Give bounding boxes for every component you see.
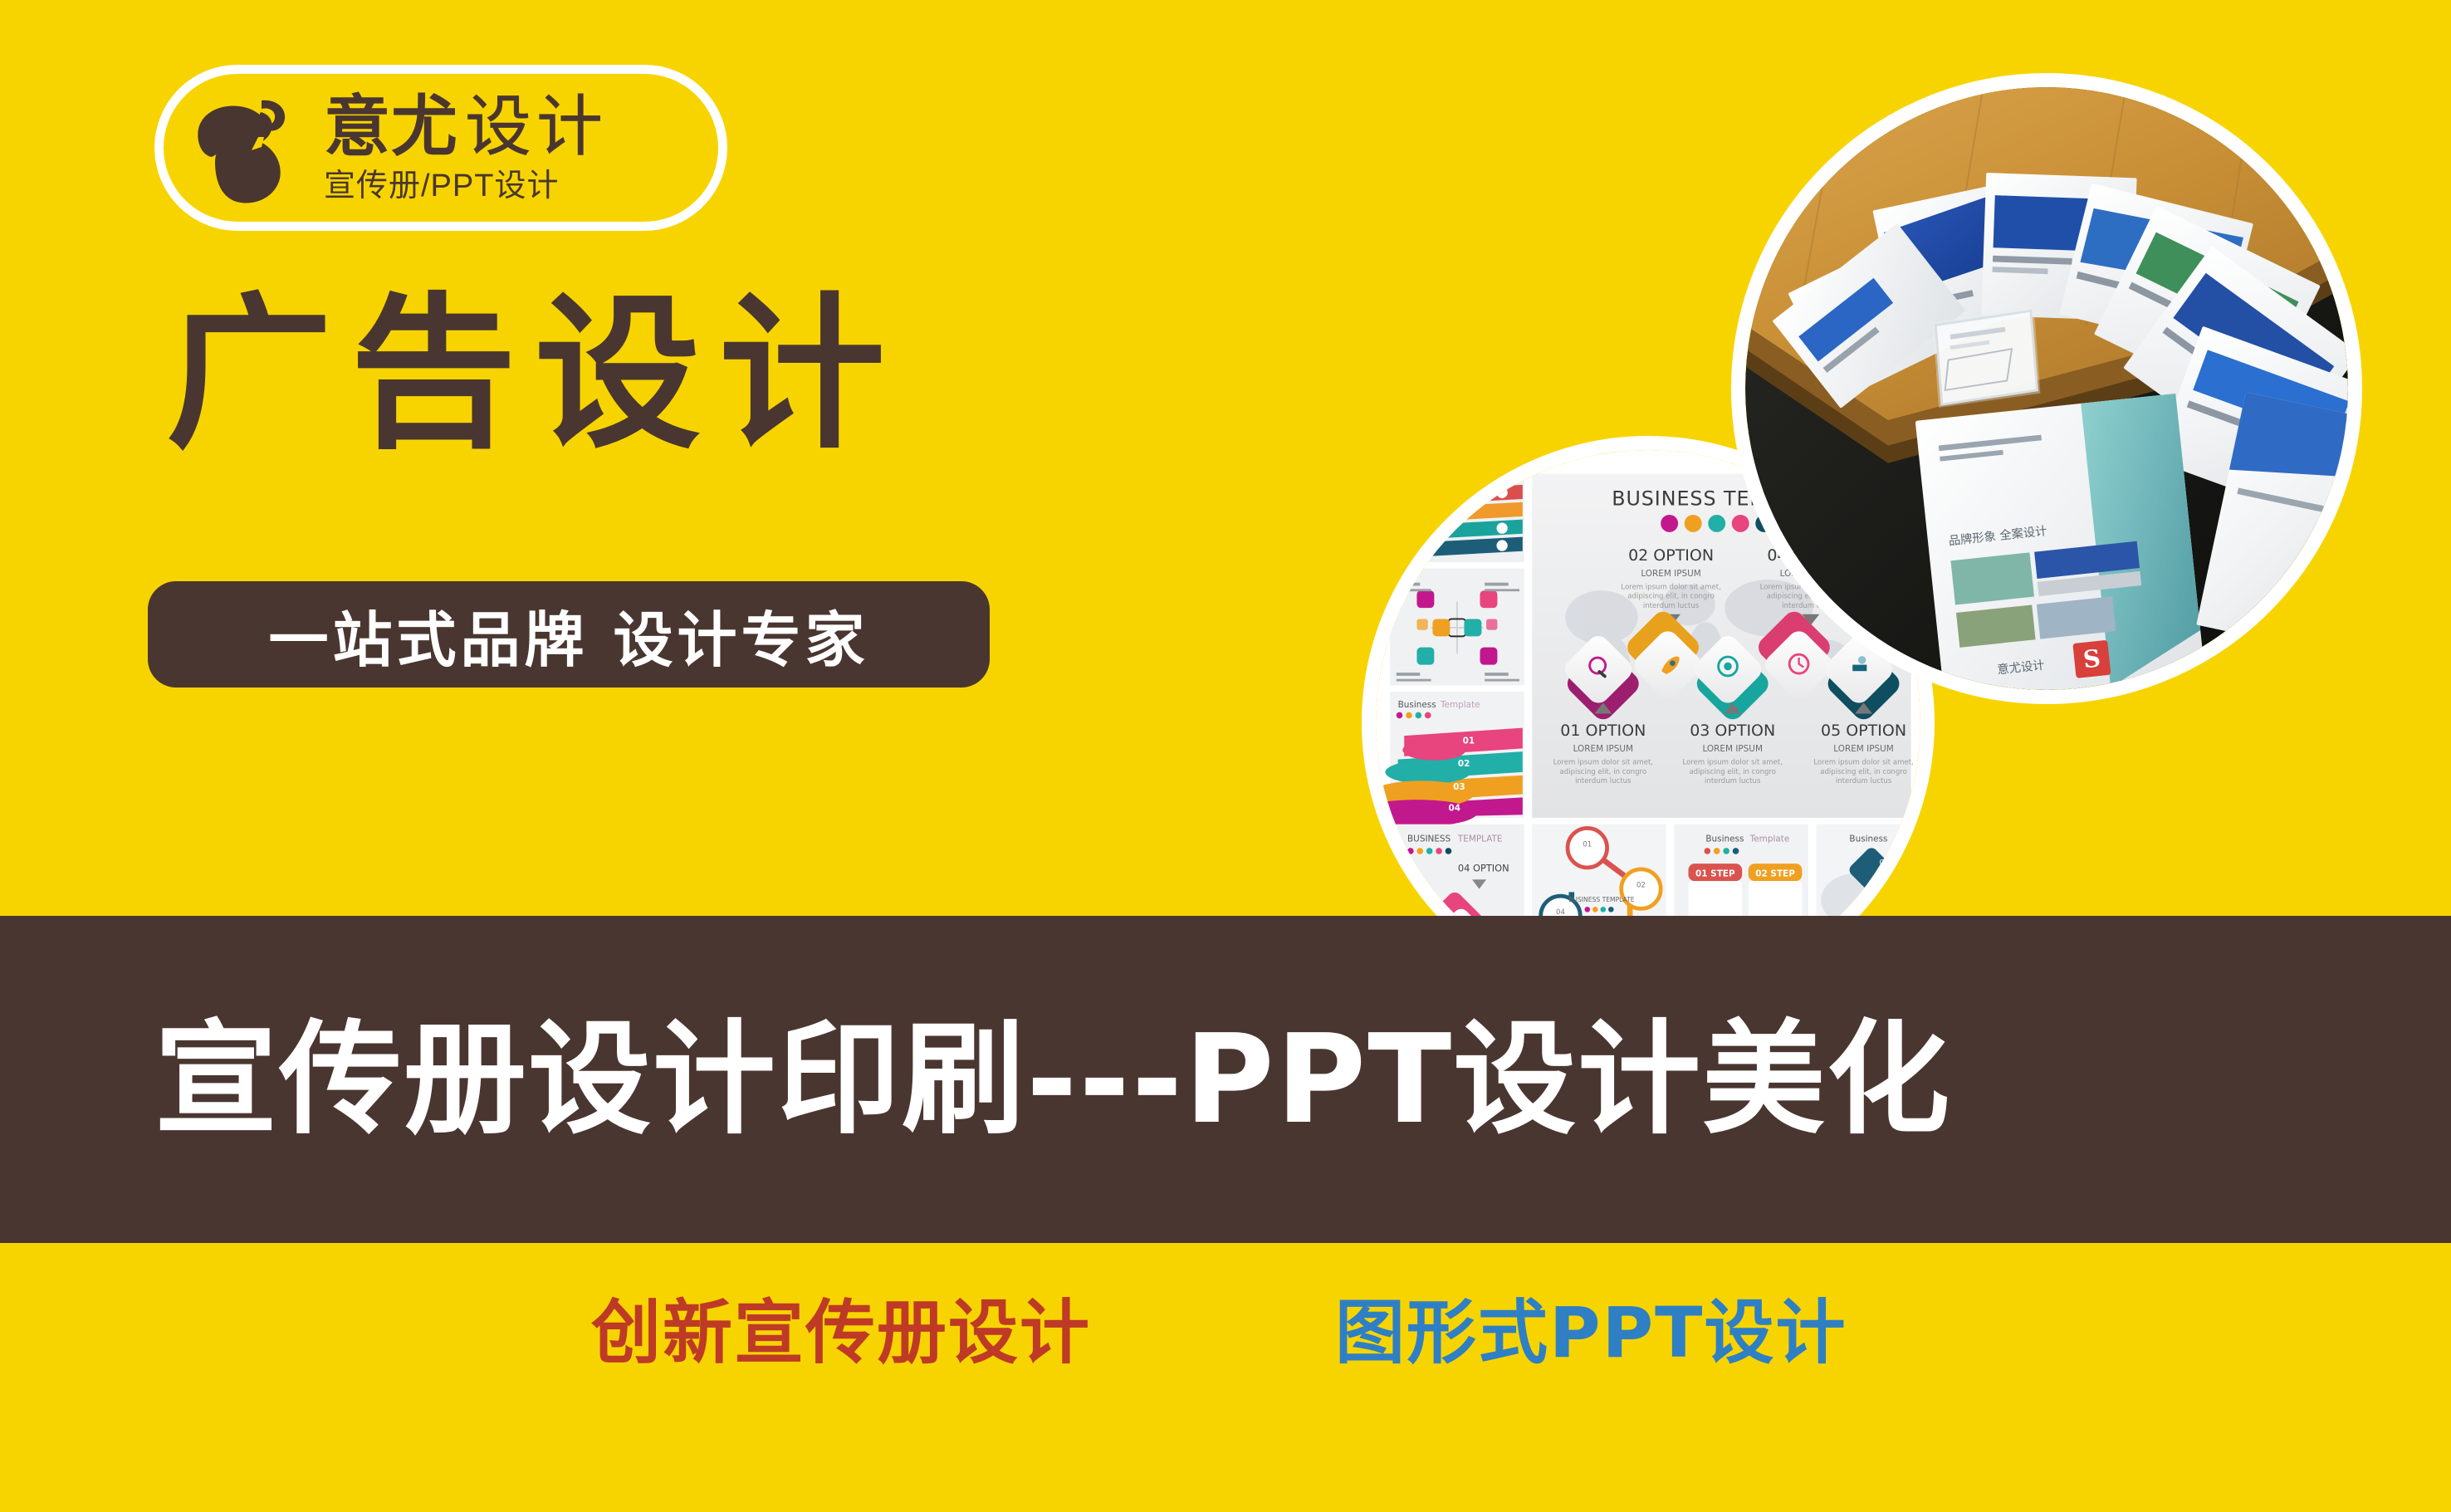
svg-text:02: 02 (1458, 759, 1470, 769)
footer-label-ppt: 图形式PPT设计 (1335, 1298, 1847, 1368)
page-title: 广告设计 (166, 292, 903, 458)
svg-text:Template: Template (1440, 700, 1480, 710)
svg-text:S: S (2082, 643, 2101, 673)
svg-text:Lorem ipsum dolor sit amet,: Lorem ipsum dolor sit amet, (1553, 758, 1653, 766)
footer-bar: 创新宣传册设计 图形式PPT设计 (0, 1243, 2451, 1512)
tagline-pill-label: 一站式品牌 设计专家 (268, 591, 868, 678)
svg-text:interdum luctus: interdum luctus (1836, 777, 1892, 785)
svg-text:Business: Business (1849, 834, 1887, 844)
svg-text:Business: Business (1705, 834, 1744, 844)
svg-text:adipiscing elit, in congro: adipiscing elit, in congro (1560, 768, 1647, 776)
svg-text:BUSINESS TEMPLATE: BUSINESS TEMPLATE (1568, 896, 1635, 903)
svg-text:Lorem ipsum dolor sit amet,: Lorem ipsum dolor sit amet, (1813, 758, 1913, 766)
logo-name-bold: 意尤 (324, 94, 458, 160)
svg-text:LOREM IPSUM: LOREM IPSUM (1702, 744, 1762, 754)
svg-text:02: 02 (1636, 882, 1646, 890)
banner-canvas: 意尤 设计 宣传册/PPT设计 广告设计 一站式品牌 设计专家 (0, 0, 2451, 1512)
bean-sprout-logo-icon (182, 86, 311, 210)
svg-text:adipiscing elit, in congro: adipiscing elit, in congro (1689, 768, 1776, 776)
svg-text:01: 01 (1583, 840, 1592, 849)
svg-text:04: 04 (1448, 803, 1460, 813)
logo-tagline: 宣传册/PPT设计 (324, 170, 608, 202)
svg-text:02 OPTION: 02 OPTION (1628, 546, 1714, 565)
svg-text:产品服务画册: 产品服务画册 (2328, 542, 2348, 605)
svg-text:06: 06 (1880, 859, 1890, 868)
logo-badge: 意尤 设计 宣传册/PPT设计 (154, 65, 727, 231)
svg-text:02 STEP: 02 STEP (1755, 869, 1795, 878)
svg-text:01 STEP: 01 STEP (1695, 869, 1735, 878)
main-banner-label: 宣传册设计印刷---PPT设计美化 (154, 1018, 1951, 1141)
brochure-photo-circle: 企业形象宣传册 品牌形象 全案设计 (1731, 73, 2362, 704)
footer-label-brochure: 创新宣传册设计 (591, 1298, 1091, 1368)
svg-text:01 OPTION: 01 OPTION (1560, 722, 1646, 740)
logo-name-thin: 设计 (465, 94, 608, 160)
svg-text:Lorem ipsum dolor sit amet,: Lorem ipsum dolor sit amet, (1682, 758, 1782, 766)
svg-text:05 OPTION: 05 OPTION (1821, 722, 1906, 740)
tagline-pill: 一站式品牌 设计专家 (148, 581, 990, 687)
svg-text:Business: Business (1398, 700, 1436, 710)
svg-text:TEMPLATE: TEMPLATE (1457, 834, 1503, 844)
svg-text:LOREM IPSUM: LOREM IPSUM (1833, 744, 1893, 754)
svg-text:adipiscing elit, in congro: adipiscing elit, in congro (1820, 768, 1907, 776)
svg-text:interdum luctus: interdum luctus (1575, 777, 1632, 785)
svg-text:03 OPTION: 03 OPTION (1690, 722, 1775, 740)
svg-text:interdum luctus: interdum luctus (1643, 602, 1700, 610)
svg-text:04 OPTION: 04 OPTION (1458, 863, 1509, 874)
svg-text:Lorem ipsum dolor sit amet,: Lorem ipsum dolor sit amet, (1621, 583, 1720, 591)
svg-text:LOREM IPSUM: LOREM IPSUM (1641, 569, 1700, 579)
svg-text:BUSINESS: BUSINESS (1407, 834, 1451, 844)
svg-text:Template: Template (1749, 834, 1790, 844)
svg-text:adipiscing elit, in congro: adipiscing elit, in congro (1627, 593, 1715, 601)
svg-text:LOREM IPSUM: LOREM IPSUM (1573, 744, 1633, 754)
svg-text:interdum luctus: interdum luctus (1705, 777, 1761, 785)
main-banner-bar: 宣传册设计印刷---PPT设计美化 (0, 916, 2451, 1243)
svg-text:03: 03 (1453, 782, 1465, 792)
svg-text:01: 01 (1463, 736, 1475, 746)
